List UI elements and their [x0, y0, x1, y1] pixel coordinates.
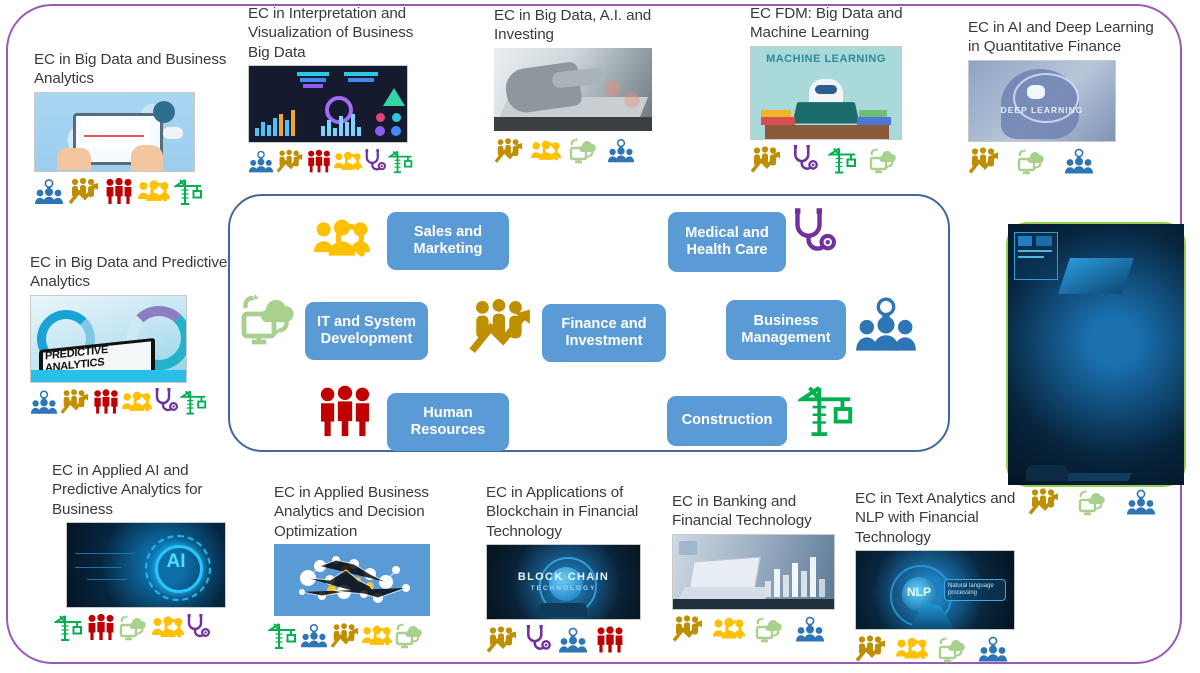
sector-label-line2: Resources — [411, 422, 486, 440]
sectors-panel: Sales andMarketing Medical andHealth Car… — [228, 194, 950, 452]
thumb-text-deep-learning: DEEP LEARNING — [969, 105, 1115, 115]
sector-label-line1: Construction — [682, 412, 773, 430]
crane-icon — [174, 177, 204, 210]
people-growth-arrow-icon — [330, 623, 360, 654]
crane-icon — [268, 621, 298, 654]
target-people-icon — [334, 149, 362, 179]
course-thumbnail-predictive-analytics: PREDICTIVE ANALYTICS — [30, 295, 187, 383]
thumb-text-nlp-sub: Natural language processing — [944, 579, 1006, 601]
financial-thumbnail-laptop-data — [1031, 405, 1161, 485]
people-bulb-icon — [854, 296, 918, 359]
target-people-icon — [138, 178, 170, 210]
course-icon-row — [968, 147, 1168, 180]
course-icon-row — [54, 613, 257, 646]
cloud-monitor-icon — [1016, 147, 1048, 180]
course-icon-row — [750, 145, 940, 179]
crane-icon — [798, 378, 856, 445]
course-thumbnail-dark-dashboard — [248, 65, 408, 143]
stethoscope-icon — [186, 614, 210, 646]
course-icon-row — [855, 635, 1030, 668]
financial-analytics-panel: EC in Financial Analytics python ED in F… — [1006, 222, 1186, 487]
target-people-icon — [713, 615, 745, 648]
cloud-monitor-icon — [868, 146, 900, 179]
people-bulb-icon — [978, 636, 1008, 668]
people-bulb-icon — [607, 138, 635, 169]
course-thumbnail-tablet-analytics — [34, 92, 195, 172]
target-people-icon — [122, 389, 152, 420]
course-thumbnail-cloud-network — [274, 544, 430, 616]
people-bulb-icon — [558, 627, 588, 659]
stethoscope-icon — [792, 145, 818, 179]
course-card-big-data-predictive-analytics[interactable]: EC in Big Data and Predictive Analytics … — [30, 253, 230, 420]
course-title: EC in Applied Business Analytics and Dec… — [274, 483, 474, 541]
sector-label-line2: Health Care — [685, 242, 769, 260]
people-bulb-icon — [34, 179, 64, 210]
sector-label-line1: Finance and — [561, 316, 646, 334]
target-people-icon — [314, 215, 370, 268]
course-thumbnail-robot-hand-keyboard — [494, 48, 652, 131]
cloud-monitor-icon — [394, 621, 426, 654]
people-growth-arrow-icon — [750, 146, 782, 179]
people-growth-arrow-icon — [672, 615, 704, 648]
sector-label-line2: Investment — [561, 333, 646, 351]
course-icon-row — [486, 625, 656, 659]
thumb-text-block-chain: BLOCK CHAIN — [487, 571, 640, 583]
people-bulb-icon — [248, 150, 274, 179]
three-people-icon — [104, 178, 134, 210]
course-icon-row — [34, 177, 229, 210]
course-card-big-data-ai-investing[interactable]: EC in Big Data, A.I. and Investing — [494, 6, 674, 169]
course-title: EC in Big Data and Business Analytics — [34, 50, 229, 89]
course-card-fdm-big-data-machine-learning[interactable]: EC FDM: Big Data and Machine Learning MA… — [750, 4, 940, 179]
people-bulb-icon — [30, 390, 58, 420]
course-thumbnail-machine-learning: MACHINE LEARNING — [750, 46, 902, 140]
three-people-icon — [92, 389, 120, 420]
course-title: EC in Interpretation and Visualization o… — [248, 4, 428, 62]
three-people-icon — [306, 149, 332, 179]
sector-pill-business-management[interactable]: BusinessManagement — [726, 300, 846, 360]
course-thumbnail-blockchain-globe: BLOCK CHAIN TECHNOLOGY — [486, 544, 641, 620]
people-growth-arrow-icon — [968, 147, 1000, 180]
course-icon-row — [494, 136, 674, 169]
sector-label-line2: Marketing — [414, 241, 483, 259]
sector-pill-sales-and-marketing[interactable]: Sales andMarketing — [387, 212, 509, 270]
course-thumbnail-banking-laptop — [672, 534, 835, 610]
people-growth-arrow-icon — [68, 178, 100, 210]
course-thumbnail-nlp-touch: NLP Natural language processing — [855, 550, 1015, 630]
crane-icon — [180, 388, 208, 420]
thumb-text-nlp: NLP — [902, 585, 936, 599]
sector-label-line1: Sales and — [414, 224, 483, 242]
course-title: EC in Text Analytics and NLP with Financ… — [855, 489, 1030, 547]
course-card-blockchain-fintech[interactable]: EC in Applications of Blockchain in Fina… — [486, 483, 656, 659]
people-growth-arrow-icon — [486, 626, 518, 659]
cloud-monitor-icon — [118, 613, 150, 646]
course-title: EC in Applied AI and Predictive Analytic… — [52, 461, 257, 519]
financial-panel-icon-row — [1028, 488, 1156, 521]
course-icon-row — [30, 388, 230, 420]
sector-pill-finance-and-investment[interactable]: Finance andInvestment — [542, 304, 666, 362]
crane-icon — [54, 613, 84, 646]
people-growth-arrow-icon — [1028, 503, 1060, 520]
sector-pill-medical-and-health-care[interactable]: Medical andHealth Care — [668, 212, 786, 272]
course-card-applied-ai-predictive-business[interactable]: EC in Applied AI and Predictive Analytic… — [52, 461, 257, 646]
people-growth-arrow-icon — [855, 635, 887, 668]
crane-icon — [828, 145, 858, 179]
three-people-icon — [86, 614, 116, 646]
course-icon-row — [248, 148, 428, 179]
stethoscope-icon — [154, 388, 178, 420]
course-icon-row — [268, 621, 474, 654]
sector-label-line1: Business — [741, 313, 830, 331]
sector-pill-it-and-system-development[interactable]: IT and SystemDevelopment — [305, 302, 428, 360]
course-card-interpretation-visualization[interactable]: EC in Interpretation and Visualization o… — [248, 4, 428, 179]
stethoscope-icon — [792, 208, 836, 263]
stethoscope-icon — [525, 625, 551, 659]
people-growth-arrow-icon — [468, 299, 534, 360]
course-card-applied-business-analytics-decision[interactable]: EC in Applied Business Analytics and Dec… — [274, 483, 474, 654]
course-card-banking-financial-technology[interactable]: EC in Banking and Financial Technology — [672, 492, 852, 648]
course-title: EC in Banking and Financial Technology — [672, 492, 852, 531]
thumb-text-block-chain-sub: TECHNOLOGY — [487, 585, 640, 592]
cloud-monitor-icon — [568, 136, 600, 169]
sector-label-line2: Management — [741, 330, 830, 348]
target-people-icon — [362, 623, 392, 654]
sector-label-line1: IT and System — [317, 314, 416, 332]
sector-label-line1: Human — [411, 405, 486, 423]
target-people-icon — [531, 138, 561, 169]
course-title: EC in Applications of Blockchain in Fina… — [486, 483, 656, 541]
three-people-icon — [595, 626, 625, 659]
course-card-ai-deep-learning-quant-finance[interactable]: EC in AI and Deep Learning in Quantitati… — [968, 18, 1168, 180]
sector-label-line2: Development — [317, 331, 416, 349]
cloud-monitor-icon — [754, 615, 786, 648]
target-people-icon — [152, 614, 184, 646]
course-title: EC in Big Data, A.I. and Investing — [494, 6, 674, 45]
thumb-text-ai: AI — [155, 551, 197, 573]
course-thumbnail-deep-learning-brain: DEEP LEARNING — [968, 60, 1116, 142]
course-card-text-analytics-nlp-fintech[interactable]: EC in Text Analytics and NLP with Financ… — [855, 489, 1030, 668]
cloud-monitor-icon — [238, 290, 302, 351]
cloud-monitor-icon — [937, 635, 969, 668]
thumb-text-machine-learning: MACHINE LEARNING — [751, 53, 901, 65]
stethoscope-icon — [364, 149, 386, 179]
three-people-icon — [316, 384, 374, 445]
sector-pill-construction[interactable]: Construction — [667, 396, 787, 446]
people-bulb-icon — [1064, 148, 1094, 180]
people-bulb-icon — [1126, 503, 1156, 520]
course-thumbnail-ai-circuit: AI — [66, 522, 226, 608]
course-card-big-data-business-analytics[interactable]: EC in Big Data and Business Analytics — [34, 50, 229, 210]
crane-icon — [388, 148, 414, 179]
cloud-monitor-icon — [1077, 503, 1109, 520]
sector-label-line1: Medical and — [685, 225, 769, 243]
course-title: EC FDM: Big Data and Machine Learning — [750, 4, 940, 43]
target-people-icon — [896, 635, 928, 668]
people-bulb-icon — [795, 616, 825, 648]
course-icon-row — [672, 615, 852, 648]
course-title: EC in Big Data and Predictive Analytics — [30, 253, 230, 292]
people-bulb-icon — [300, 623, 328, 654]
people-growth-arrow-icon — [60, 389, 90, 420]
sector-pill-human-resources[interactable]: HumanResources — [387, 393, 509, 451]
people-growth-arrow-icon — [276, 149, 304, 179]
people-growth-arrow-icon — [494, 138, 524, 169]
course-title: EC in AI and Deep Learning in Quantitati… — [968, 18, 1168, 57]
